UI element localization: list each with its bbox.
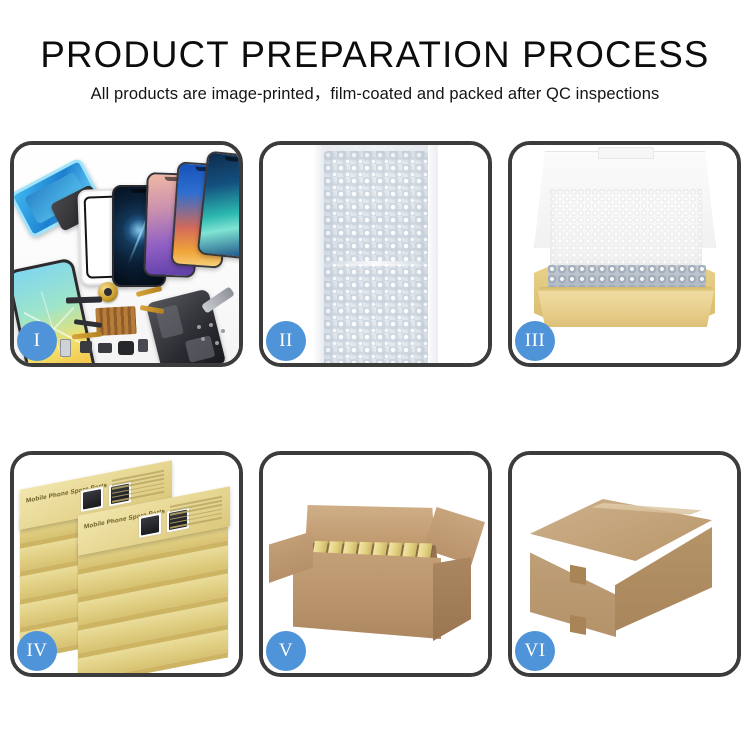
step-badge-5: V <box>266 631 306 671</box>
wrap-edge-image <box>314 145 324 363</box>
step-badge-2: II <box>266 321 306 361</box>
box-spec-lines-image <box>170 496 222 531</box>
small-component-image <box>80 341 92 353</box>
header: PRODUCT PREPARATION PROCESS All products… <box>0 0 750 104</box>
process-step-panel-1: I <box>10 141 243 367</box>
process-step-panel-3: III <box>508 141 741 367</box>
step-badge-3: III <box>515 321 555 361</box>
foam-sheet-image <box>550 189 702 265</box>
box-lid-tab-image <box>598 147 654 159</box>
box-artwork-screen-image <box>138 511 162 539</box>
small-component-image <box>98 343 112 353</box>
process-step-panel-6: VI <box>508 451 741 677</box>
small-component-image <box>60 339 71 357</box>
process-step-panel-2: II <box>259 141 492 367</box>
small-component-image <box>118 341 134 355</box>
carton-front-panel-image <box>293 551 441 639</box>
small-component-image <box>138 339 148 352</box>
process-step-panel-4: Mobile Phone Spare Parts Mobile Phone Sp… <box>10 451 243 677</box>
step-badge-6: VI <box>515 631 555 671</box>
wrap-edge-image <box>428 145 438 363</box>
process-step-grid: I II <box>10 141 740 677</box>
step-badge-1: I <box>17 321 57 361</box>
bubble-wrap-image <box>324 151 428 363</box>
box-front-panel-image <box>538 291 714 327</box>
page-title: PRODUCT PREPARATION PROCESS <box>4 34 747 76</box>
process-step-panel-5: V <box>259 451 492 677</box>
component-strip-image <box>66 296 102 303</box>
page-subtitle: All products are image-printed，film-coat… <box>0 84 750 104</box>
box-artwork-screen-image <box>80 485 104 513</box>
wrap-seam-image <box>323 261 429 266</box>
screws-image <box>195 323 229 349</box>
step-badge-4: IV <box>17 631 57 671</box>
product-preparation-infographic: PRODUCT PREPARATION PROCESS All products… <box>0 0 750 750</box>
